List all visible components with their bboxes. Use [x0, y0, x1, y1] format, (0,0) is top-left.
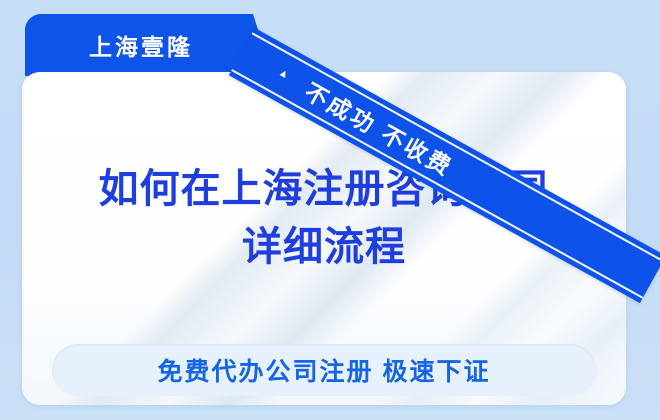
promo-poster: 上海壹隆 如何在上海注册咨询公司 详细流程 免费代办公司注册 极速下证 ▲ 不成… [0, 0, 660, 420]
brand-name: 上海壹隆 [89, 28, 193, 62]
service-pill-label: 免费代办公司注册 极速下证 [158, 352, 491, 388]
service-pill[interactable]: 免费代办公司注册 极速下证 [52, 344, 596, 396]
triangle-marker-icon: ▲ [276, 66, 291, 81]
brand-tab-inner: 上海壹隆 [25, 14, 257, 76]
